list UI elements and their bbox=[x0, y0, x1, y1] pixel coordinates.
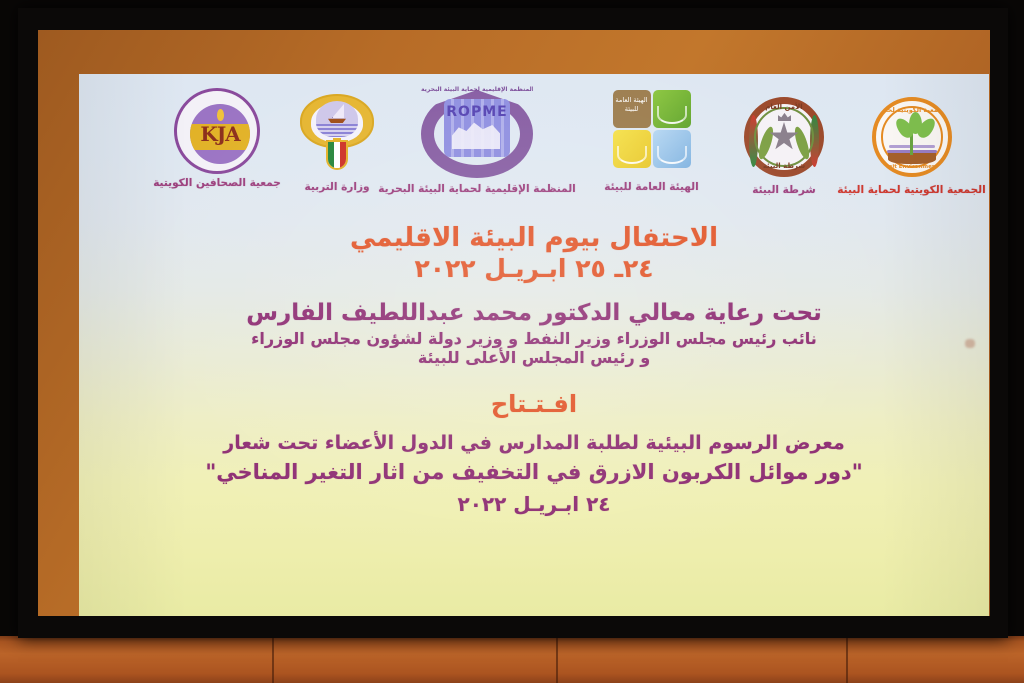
logo-caption: جمعية الصحافين الكويتية bbox=[137, 178, 297, 190]
kja-seal-icon: KJA bbox=[174, 88, 260, 174]
projector-smudge-artifact bbox=[965, 339, 975, 348]
patron-role-line-2: و رئيس المجلس الأعلى للبيئة bbox=[79, 349, 989, 367]
epa-tile-text: الهيئة العامة للبيئة bbox=[613, 96, 651, 114]
epa-four-square-icon: الهيئة العامة للبيئة bbox=[613, 90, 691, 168]
logo-caption: الهيئة العامة للبيئة bbox=[569, 182, 734, 194]
ropme-wordmark: ROPME bbox=[421, 104, 533, 120]
organizer-logo-strip: KJA جمعية الصحافين الكويتية bbox=[79, 88, 989, 220]
logo-caption: الجمعية الكويتية لحماية البيئة bbox=[834, 185, 989, 197]
logo-kuwait-journalists-association: KJA جمعية الصحافين الكويتية bbox=[137, 88, 297, 190]
ropme-globe-wreath-icon: المنظمة الإقليمية لحماية البيئة البحرية … bbox=[421, 84, 533, 180]
keps-bottom-text: Kuwait Environment Protection Society bbox=[876, 164, 948, 170]
wood-panel-wall bbox=[0, 636, 1024, 683]
event-dates: ٢٤ـ ٢٥ ابـريـل ٢٠٢٢ bbox=[79, 255, 989, 283]
patronage-line: تحت رعاية معالي الدكتور محمد عبداللطيف ا… bbox=[79, 301, 989, 327]
event-title: الاحتفال بيوم البيئة الاقليمي bbox=[79, 224, 989, 253]
projection-screen-bezel: KJA جمعية الصحافين الكويتية bbox=[18, 8, 1008, 638]
logo-kuwait-environment-protection-society: الجمعية الكويتية لحماية البيئة Kuwait En… bbox=[834, 97, 989, 197]
opening-heading: افـتـتاح bbox=[79, 391, 989, 418]
event-slogan: "دور موائل الكربون الازرق في التخفيف من … bbox=[79, 461, 989, 485]
logo-environment-public-authority: الهيئة العامة للبيئة الهيئة العامة للبيئ… bbox=[569, 90, 734, 194]
ropme-arabic-arc: المنظمة الإقليمية لحماية البيئة البحرية bbox=[421, 86, 533, 93]
patron-role-line-1: نائب رئيس مجلس الوزراء وزير النفط و وزير… bbox=[79, 330, 989, 348]
environment-police-badge-icon: الأمن العام شرطة البيئة bbox=[744, 97, 824, 177]
police-badge-bottom-text: شرطة البيئة bbox=[751, 162, 817, 170]
conference-room-scene: KJA جمعية الصحافين الكويتية bbox=[0, 0, 1024, 683]
police-badge-top-text: الأمن العام bbox=[751, 103, 817, 111]
exhibition-line: معرض الرسوم البيئية لطلبة المدارس في الد… bbox=[79, 433, 989, 454]
presentation-slide: KJA جمعية الصحافين الكويتية bbox=[79, 74, 989, 616]
slide-border-frame: KJA جمعية الصحافين الكويتية bbox=[38, 30, 990, 616]
logo-environment-police: الأمن العام شرطة البيئة شرطة البيئة bbox=[724, 97, 844, 197]
logo-caption: شرطة البيئة bbox=[724, 185, 844, 197]
keps-seal-icon: الجمعية الكويتية لحماية البيئة Kuwait En… bbox=[872, 97, 952, 177]
slide-text-block: الاحتفال بيوم البيئة الاقليمي ٢٤ـ ٢٥ ابـ… bbox=[79, 224, 989, 516]
final-date: ٢٤ ابـريـل ٢٠٢٢ bbox=[79, 493, 989, 515]
